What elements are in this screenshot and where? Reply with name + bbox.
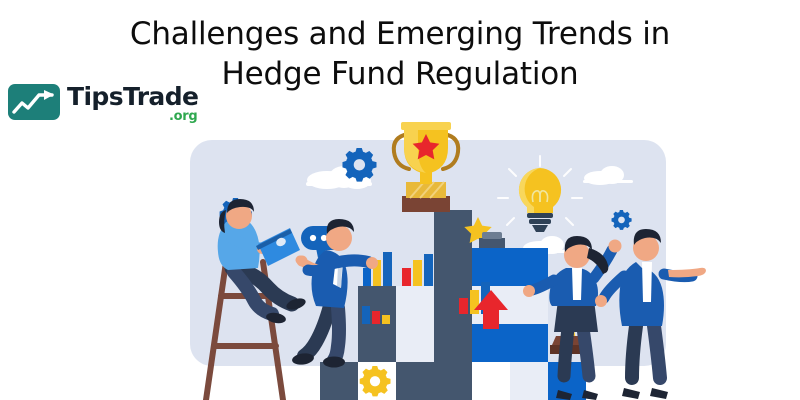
logo-word-trade: Trade [123,82,198,111]
block [510,362,548,400]
block [320,362,358,400]
block [472,362,510,400]
block [434,362,472,400]
rising-chart-arrow-icon [8,84,60,120]
block [434,248,472,286]
block [434,210,472,248]
block [396,324,434,362]
block [472,248,510,286]
trophy [394,122,458,212]
block [510,324,548,362]
hero-illustration [0,118,800,400]
block [434,324,472,362]
screenshot-root: Challenges and Emerging Trends in Hedge … [0,0,800,400]
block [472,324,510,362]
block [358,324,396,362]
logo-wordmark: TipsTrade [67,84,198,109]
block [396,286,434,324]
block [396,362,434,400]
logo-word-tips: Tips [67,82,123,111]
device-box [479,232,505,248]
